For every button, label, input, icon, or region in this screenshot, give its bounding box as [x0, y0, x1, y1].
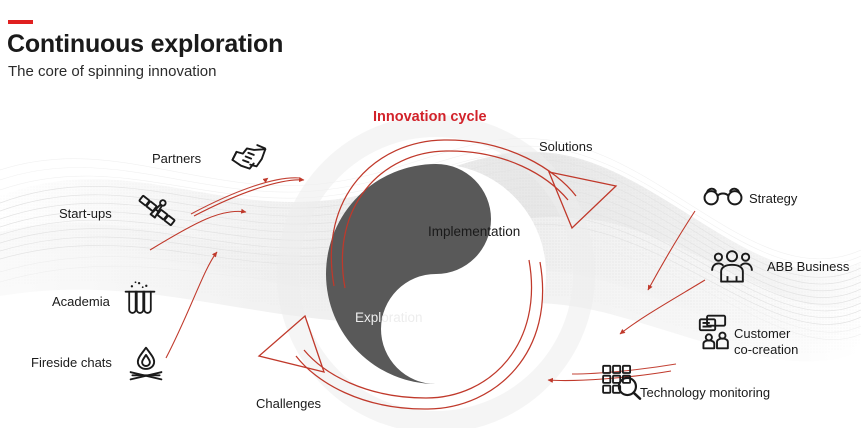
output-label-abb-business: ABB Business	[767, 259, 849, 274]
output-label-customer-line1: Customer	[734, 326, 798, 342]
campfire-icon	[126, 345, 166, 383]
input-label-academia: Academia	[52, 294, 110, 309]
page-subtitle: The core of spinning innovation	[8, 63, 216, 80]
output-label-technology-monitoring: Technology monitoring	[640, 385, 770, 400]
yin-yang-core	[326, 164, 546, 384]
people-group-icon	[711, 249, 753, 287]
output-label-customer-line2: co-creation	[734, 342, 798, 358]
input-arrow-top	[194, 180, 304, 216]
qr-magnifier-icon	[601, 364, 643, 400]
input-arrow-bottom	[166, 252, 217, 358]
input-label-start-ups: Start-ups	[59, 206, 112, 221]
binoculars-icon	[703, 183, 743, 207]
screen-share-icon	[697, 313, 737, 351]
satellite-icon	[133, 192, 177, 234]
core-label-exploration: Exploration	[355, 310, 423, 325]
output-arrow-customer	[620, 280, 705, 334]
flow-label-solutions: Solutions	[539, 139, 592, 154]
output-label-strategy: Strategy	[749, 191, 797, 206]
slide-canvas: Continuous exploration The core of spinn…	[0, 0, 861, 428]
innovation-cycle-title: Innovation cycle	[373, 109, 487, 125]
input-label-fireside-chats: Fireside chats	[31, 355, 112, 370]
core-label-implementation: Implementation	[428, 224, 520, 239]
input-label-partners: Partners	[152, 151, 201, 166]
flow-label-challenges: Challenges	[256, 396, 321, 411]
output-label-customer-co-creation: Customer co-creation	[734, 326, 798, 359]
test-tubes-icon	[122, 279, 158, 317]
handshake-icon	[228, 138, 272, 178]
output-arrows	[548, 211, 705, 381]
page-title: Continuous exploration	[7, 30, 283, 59]
output-arrow-strategy	[648, 211, 695, 290]
title-accent-rule	[8, 20, 33, 24]
